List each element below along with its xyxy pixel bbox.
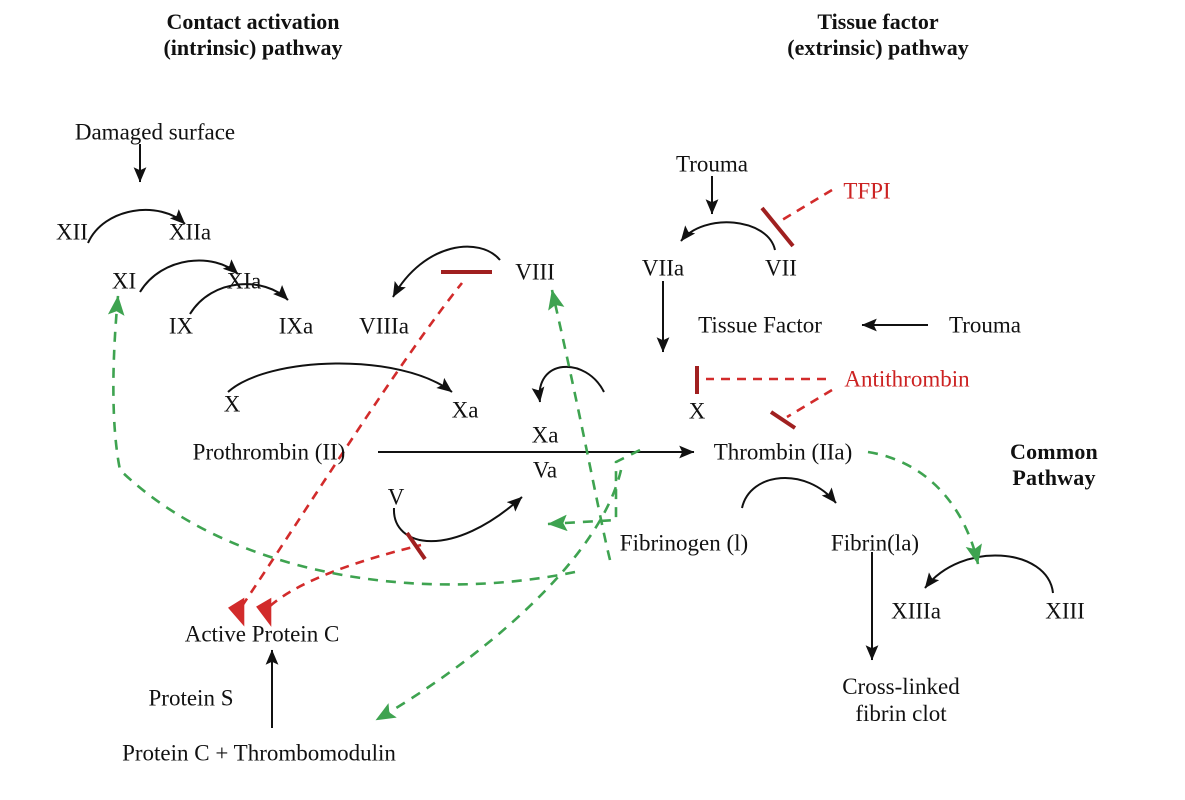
edge-x-to-xa-intrinsic <box>228 363 452 392</box>
node-fibrinogen: Fibrinogen (l) <box>620 529 748 556</box>
node-xii: XII <box>56 218 88 245</box>
heading-intrinsic-pathway: Contact activation (intrinsic) pathway <box>163 9 342 61</box>
node-cross-linked-clot: Cross-linked fibrin clot <box>842 673 960 727</box>
node-v: V <box>388 483 405 510</box>
edge-x-to-xa-extrinsic <box>540 367 604 402</box>
node-trouma-right: Trouma <box>949 311 1021 338</box>
inhibition-bars <box>407 208 795 559</box>
node-viia: VIIa <box>642 254 684 281</box>
node-viiia: VIIIa <box>359 312 409 339</box>
node-fibrin: Fibrin(la) <box>831 529 919 556</box>
node-xiiia: XIIIa <box>891 597 941 624</box>
edge-thrombin-to-protein-c <box>376 470 621 720</box>
edge-v-to-va <box>394 497 522 541</box>
node-ixa: IXa <box>279 312 313 339</box>
node-tissue-factor: Tissue Factor <box>698 311 822 338</box>
heading-extrinsic-pathway: Tissue factor (extrinsic) pathway <box>787 9 968 61</box>
node-viii: VIII <box>515 258 555 285</box>
node-active-protein-c: Active Protein C <box>185 620 340 647</box>
node-vii: VII <box>765 254 797 281</box>
node-xa-intrinsic: Xa <box>452 396 479 423</box>
bar-antithrombin-thrombin <box>771 412 795 428</box>
node-xiii: XIII <box>1045 597 1085 624</box>
node-x-extrinsic: X <box>689 397 706 424</box>
node-xiia: XIIa <box>169 218 211 245</box>
coagulation-cascade-diagram: Contact activation (intrinsic) pathway T… <box>0 0 1185 800</box>
node-damaged-surface: Damaged surface <box>75 118 235 145</box>
edge-xiii-to-xiiia <box>925 555 1053 593</box>
node-ix: IX <box>169 312 193 339</box>
node-thrombin: Thrombin (IIa) <box>714 438 853 465</box>
green-activation-lines <box>113 290 978 720</box>
edge-antithrombin-to-thrombin <box>787 390 832 417</box>
clot-line2: fibrin clot <box>842 700 960 727</box>
edge-apc-to-va <box>270 545 421 606</box>
node-x-intrinsic: X <box>224 390 241 417</box>
cofactor-va: Va <box>533 456 557 483</box>
node-xi: XI <box>112 267 136 294</box>
heading-intrinsic-line1: Contact activation <box>163 9 342 35</box>
heading-extrinsic-line1: Tissue factor <box>787 9 968 35</box>
node-protein-c-thrombomodulin: Protein C + Thrombomodulin <box>122 739 396 766</box>
clot-line1: Cross-linked <box>842 673 960 700</box>
heading-common-line1: Common <box>1010 439 1098 465</box>
cofactor-xa: Xa <box>532 421 559 448</box>
bar-apc-va <box>407 533 425 559</box>
node-protein-s: Protein S <box>149 684 234 711</box>
heading-common-line2: Pathway <box>1010 465 1098 491</box>
node-trouma-top: Trouma <box>676 150 748 177</box>
heading-extrinsic-line2: (extrinsic) pathway <box>787 35 968 61</box>
heading-intrinsic-line2: (intrinsic) pathway <box>163 35 342 61</box>
node-prothrombin: Prothrombin (II) <box>193 438 346 465</box>
inhibitor-tfpi: TFPI <box>843 177 890 204</box>
edge-fibrinogen-to-fibrin <box>742 478 836 508</box>
edge-thrombin-to-viii <box>552 290 610 560</box>
node-xia: XIa <box>227 267 261 294</box>
edge-tfpi-to-vii <box>782 190 832 220</box>
bar-tfpi-vii <box>762 208 793 246</box>
edge-vii-to-viia <box>681 222 775 250</box>
inhibitor-antithrombin: Antithrombin <box>844 365 969 392</box>
heading-common-pathway: Common Pathway <box>1010 439 1098 491</box>
